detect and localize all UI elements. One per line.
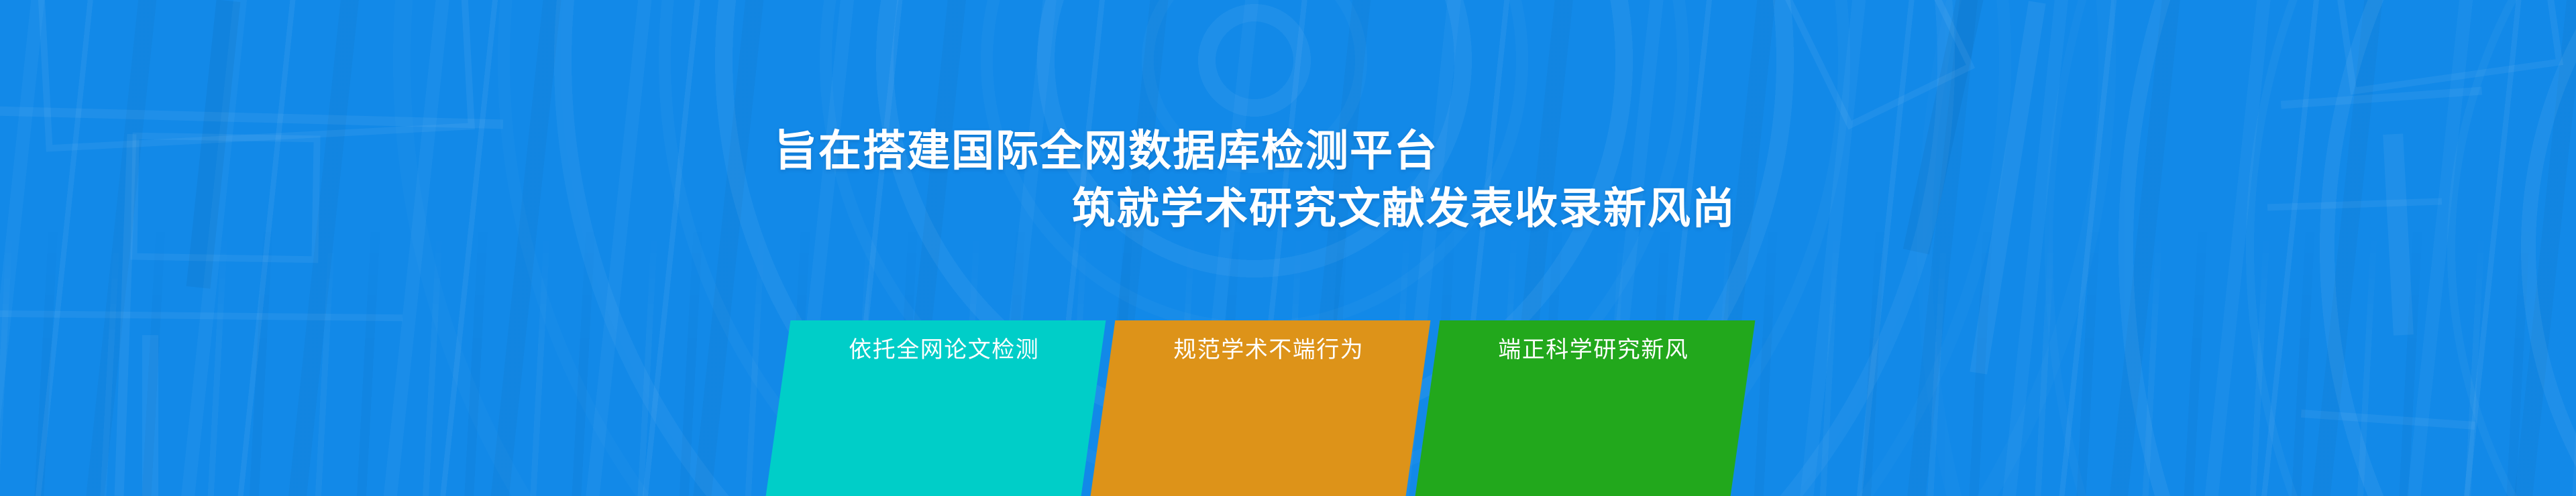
feature-tag-label: 端正科学研究新风	[1498, 336, 1688, 363]
feature-tag-academic-misconduct[interactable]: 规范学术不端行为	[1091, 320, 1431, 496]
feature-tag-label: 依托全网论文检测	[849, 336, 1039, 363]
feature-tag-label: 规范学术不端行为	[1173, 336, 1364, 363]
feature-tag-research-ethics[interactable]: 端正科学研究新风	[1415, 320, 1756, 496]
feature-tag-plagiarism-detection[interactable]: 依托全网论文检测	[766, 320, 1106, 496]
headline-line-1: 旨在搭建国际全网数据库检测平台	[774, 126, 2576, 176]
headline-line-2: 筑就学术研究文献发表收录新风尚	[1072, 184, 2576, 233]
feature-tag-strip: 依托全网论文检测 规范学术不端行为 端正科学研究新风	[778, 320, 1743, 496]
headline-block: 旨在搭建国际全网数据库检测平台 筑就学术研究文献发表收录新风尚	[0, 126, 2576, 233]
hero-banner: 旨在搭建国际全网数据库检测平台 筑就学术研究文献发表收录新风尚 依托全网论文检测…	[0, 0, 2576, 496]
